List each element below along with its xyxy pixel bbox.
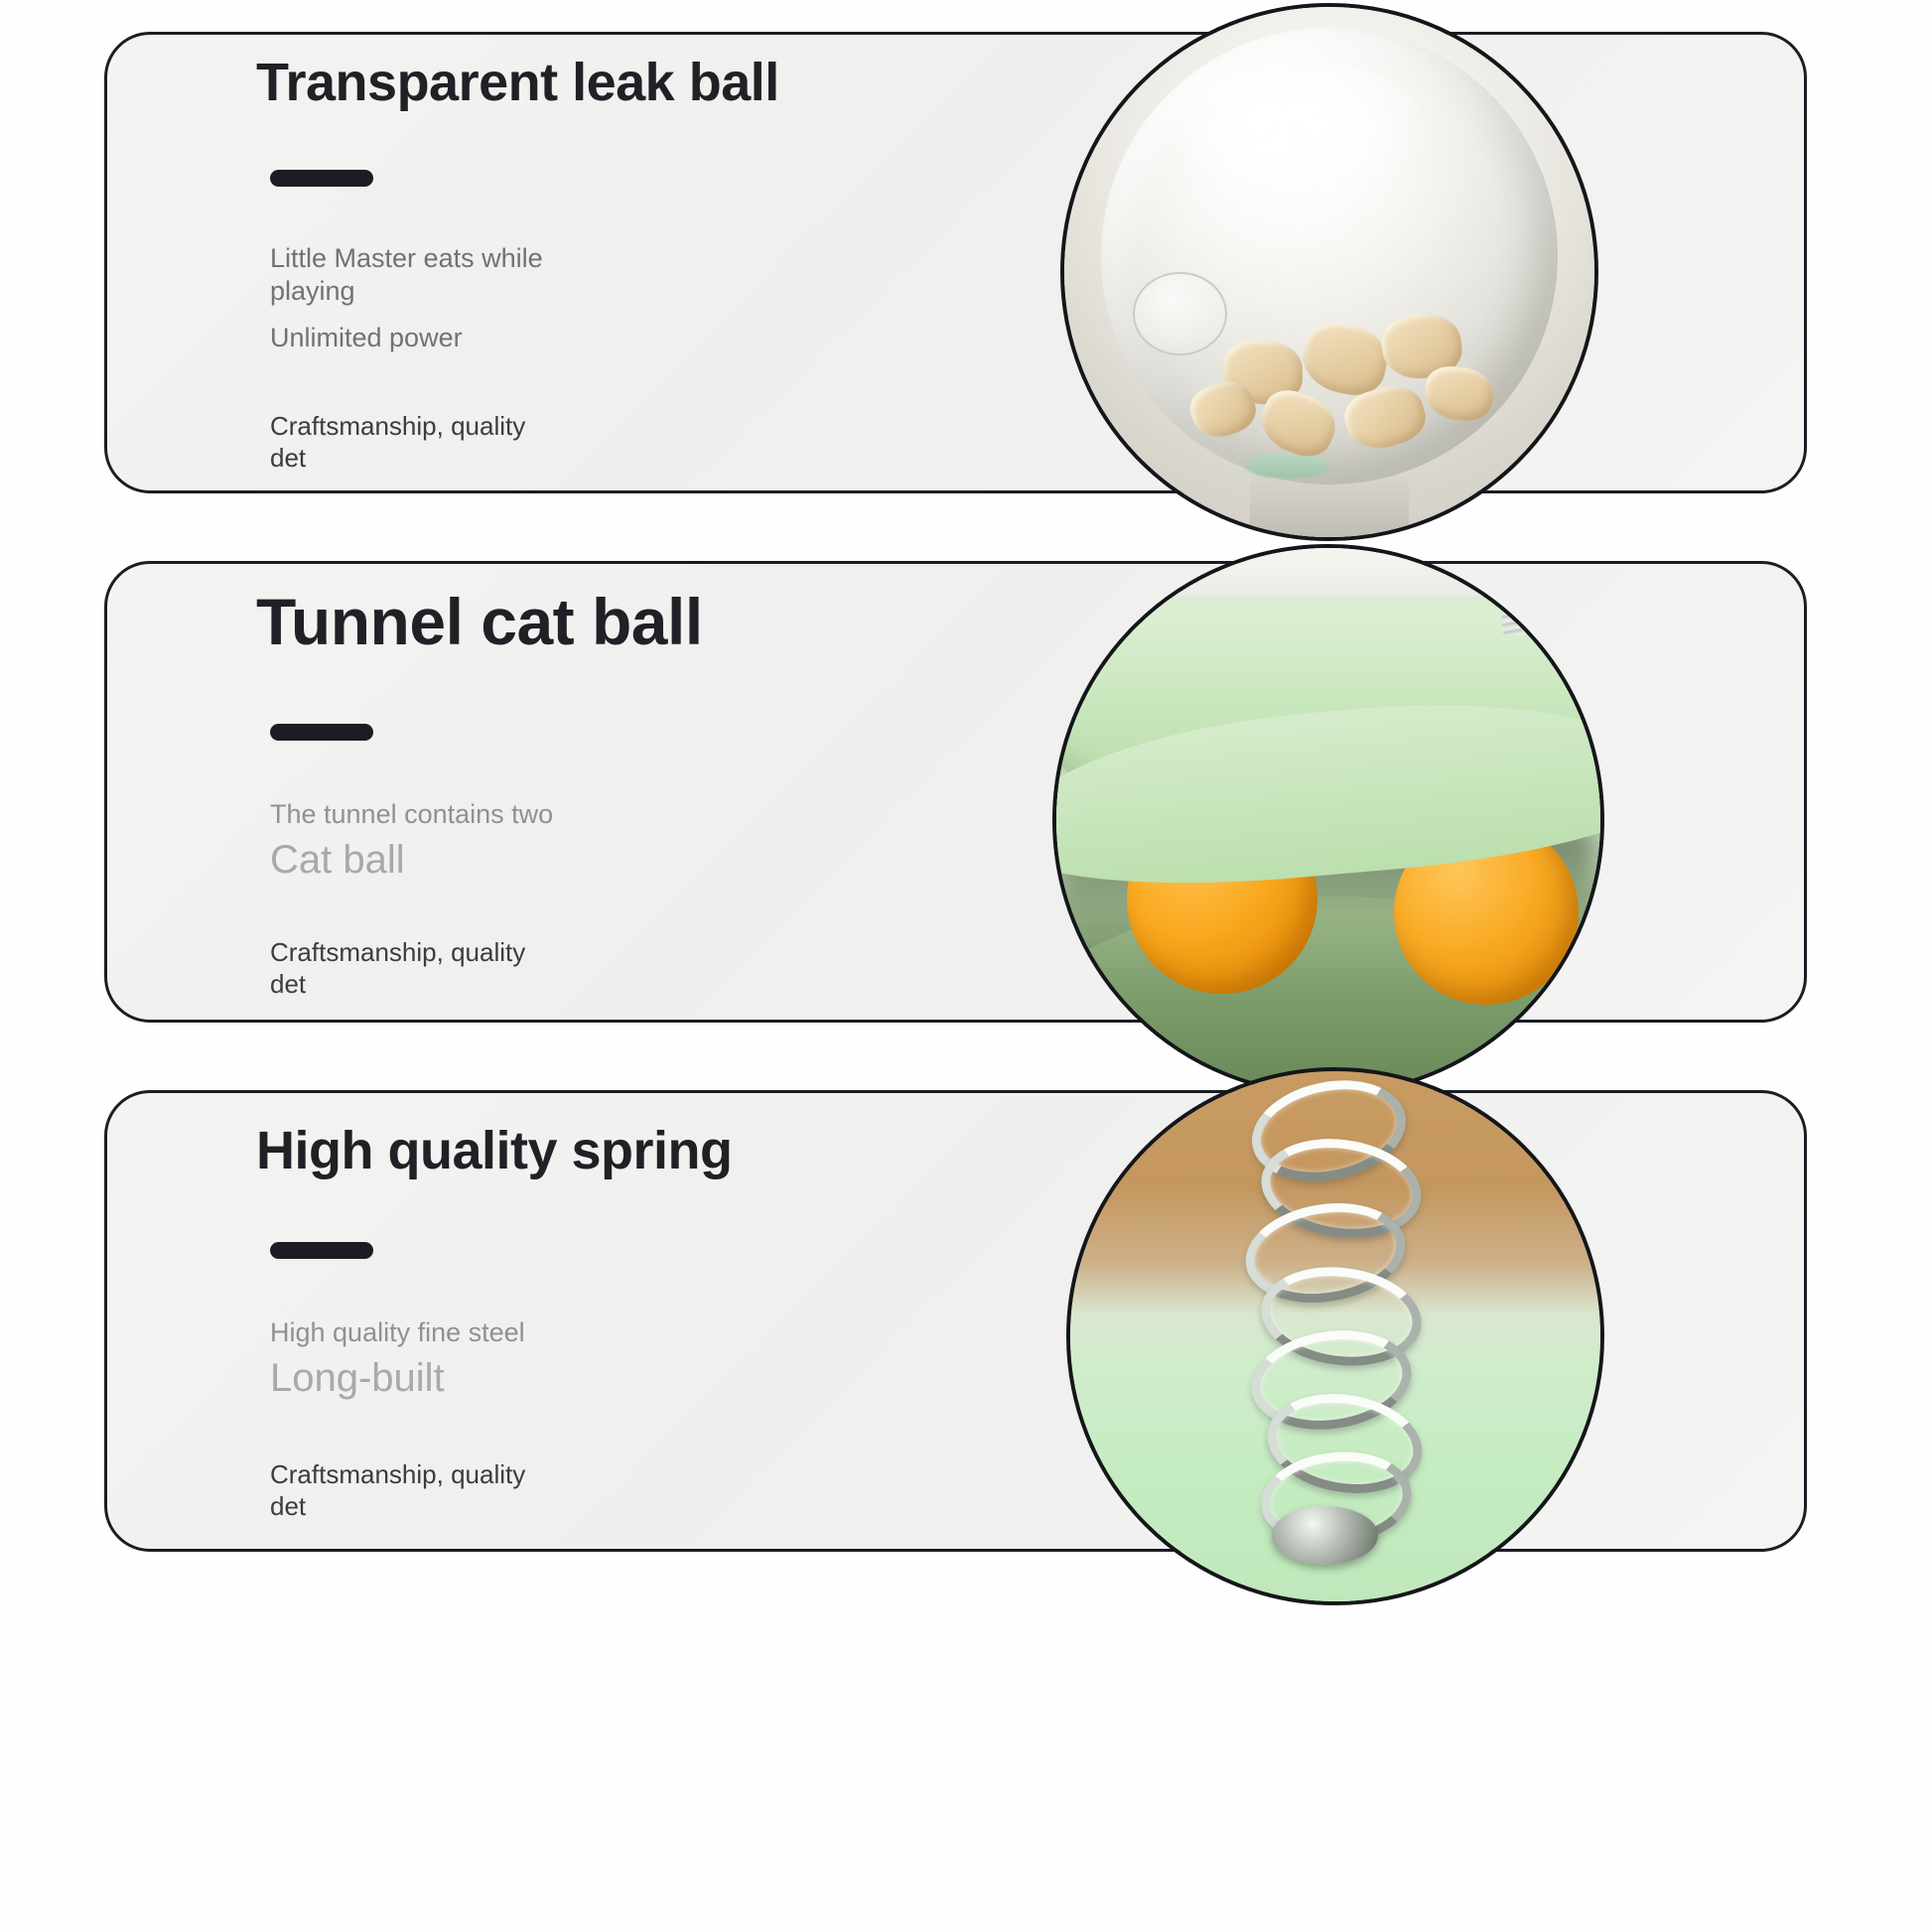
card-subtitle-secondary: Cat ball [270, 835, 892, 885]
feature-card-transparent-leak-ball[interactable]: Transparent leak ball Little Master eats… [104, 32, 1807, 493]
feature-card-tunnel-cat-ball[interactable]: Tunnel cat ball The tunnel contains two … [104, 561, 1807, 1023]
feature-card-high-quality-spring[interactable]: High quality spring High quality fine st… [104, 1090, 1807, 1552]
spring-end-cap [1272, 1506, 1378, 1565]
title-underline-dash [270, 724, 373, 741]
card-subtitle-primary: High quality fine steel [270, 1316, 568, 1349]
ball-highlight [1180, 60, 1425, 198]
card-text-column: Transparent leak ball Little Master eats… [256, 35, 892, 490]
feature-card-list: Transparent leak ball Little Master eats… [0, 0, 1932, 1932]
card-subtitle-block: Little Master eats while playing Unlimit… [270, 242, 892, 354]
card-text-column: Tunnel cat ball The tunnel contains two … [256, 564, 892, 1020]
card-subtitle-block: The tunnel contains two Cat ball [270, 798, 892, 885]
title-underline-dash [270, 1242, 373, 1259]
card-subtitle-block: High quality fine steel Long-built [270, 1316, 892, 1403]
card-title: Transparent leak ball [256, 53, 892, 112]
spring-icon [1502, 544, 1568, 635]
card-subtitle-secondary: Long-built [270, 1353, 892, 1403]
ball-inner-accent [1245, 453, 1329, 480]
card-subtitle-primary: Little Master eats while playing [270, 242, 568, 308]
card-footnote: Craftsmanship, quality det [270, 1458, 528, 1522]
ball-dispense-hole [1133, 272, 1227, 355]
card-title: High quality spring [256, 1121, 892, 1180]
transparent-leak-ball-photo [1060, 3, 1598, 541]
card-footnote: Craftsmanship, quality det [270, 410, 528, 474]
tunnel-cat-ball-photo [1052, 544, 1604, 1096]
card-footnote: Craftsmanship, quality det [270, 936, 528, 1000]
title-underline-dash [270, 170, 373, 187]
card-subtitle-primary: The tunnel contains two [270, 798, 568, 831]
card-subtitle-secondary: Unlimited power [270, 322, 892, 354]
card-text-column: High quality spring High quality fine st… [256, 1093, 892, 1549]
high-quality-spring-photo [1066, 1067, 1604, 1605]
card-title: Tunnel cat ball [256, 585, 892, 658]
